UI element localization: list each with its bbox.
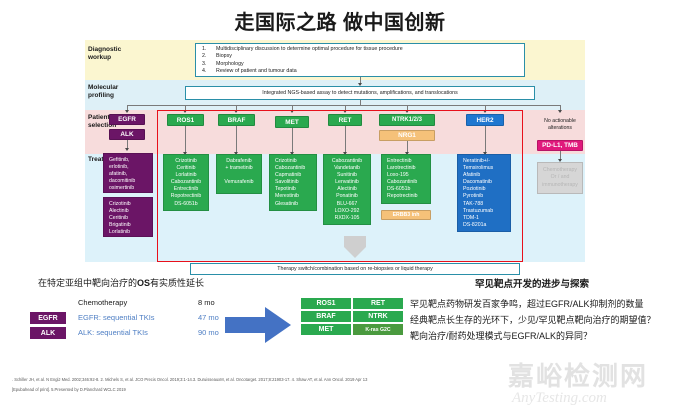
step-number: 4. xyxy=(202,68,206,75)
therapy-switch-box: Therapy switch/combination based on re-b… xyxy=(190,263,520,275)
row-label-molecular: Molecular profiling xyxy=(88,84,132,100)
watermark: 嘉峪检测网 AnyTesting.com xyxy=(502,356,672,412)
transition-arrow-icon xyxy=(225,305,295,345)
arrow-met-icon xyxy=(290,110,294,113)
no-actionable-line1: No actionable xyxy=(544,118,576,125)
gene-chip-nrg1[interactable]: NRG1 xyxy=(379,130,435,141)
drug-name: Capmatinib xyxy=(275,172,314,179)
step-number: 1. xyxy=(202,46,206,53)
caption-left-pre: 在特定亚组中靶向治疗的 xyxy=(38,278,137,288)
drug-name: Neratinib+/- xyxy=(463,158,508,165)
drug-box-braf: Dabrafenib + trametinib Vemurafenib xyxy=(216,154,262,194)
reference-line-1: . Schiller JH, et al. N EnglJ Med. 2002;… xyxy=(12,377,672,383)
drug-name: Vemurafenib xyxy=(219,179,259,186)
arrow-egfr-icon xyxy=(125,110,129,113)
drug-name: dacomitinib xyxy=(109,178,150,185)
rare-target-notes: 罕见靶点药物研发百家争鸣，超过EGFR/ALK抑制剂的数量 经典靶点长生存的光环… xyxy=(410,296,656,344)
caption-right: 罕见靶点开发的进步与探索 xyxy=(475,276,589,290)
drug-name: Crizotinib xyxy=(275,158,314,165)
drug-name: Crizotinib xyxy=(109,201,150,208)
table-row: EGFR EGFR: sequential TKIs 47 mo xyxy=(30,311,230,326)
arrow-noactionable-icon xyxy=(558,110,562,113)
drug-name: osimertinib xyxy=(109,185,150,192)
drug-name: Cabozantinib xyxy=(166,179,206,186)
step-text: Biopsy xyxy=(216,53,232,59)
caption-left-bold: OS xyxy=(137,278,150,288)
diagnostic-step: 2.Biopsy xyxy=(216,53,520,60)
os-label: ALK: sequential TKIs xyxy=(78,328,148,337)
drug-name: Cabozantinib xyxy=(275,165,314,172)
drug-name: Trastuzumab xyxy=(463,208,508,215)
connector-ret-treat xyxy=(345,126,346,154)
chip-met[interactable]: MET xyxy=(300,323,352,336)
diagnostic-workup-box: 1.Multidisciplinary discussion to determ… xyxy=(195,43,525,77)
row-label-diagnostic-line1: Diagnostic xyxy=(88,46,132,54)
diagnostic-step: 1.Multidisciplinary discussion to determ… xyxy=(216,46,520,53)
drug-name: Entrectinib xyxy=(166,186,206,193)
chip-ntrk[interactable]: NTRK xyxy=(352,310,404,323)
step-text: Multidisciplinary discussion to determin… xyxy=(216,46,403,52)
caption-left: 在特定亚组中靶向治疗的OS有实质性延长 xyxy=(38,276,204,289)
drug-name: Repotrectinib xyxy=(387,193,428,200)
caption-left-post: 有实质性延长 xyxy=(150,278,204,288)
chemo-line3: immunotherapy xyxy=(542,182,578,189)
drug-name: Ponatinib xyxy=(326,193,368,200)
drug-name: + trametinib xyxy=(219,165,259,172)
slide: 走国际之路 做中国创新 Diagnostic workup Molecular … xyxy=(0,0,680,413)
chip-ret[interactable]: RET xyxy=(352,297,404,310)
chip-kras-g2c[interactable]: K-ras G2C xyxy=(352,323,404,336)
connector-ros1-treat xyxy=(185,126,186,154)
drug-name: Ceritinib xyxy=(166,165,206,172)
drug-name: Dabrafenib xyxy=(219,158,259,165)
note-line: 靶向治疗/耐药处理模式与EGFR/ALK的异同？ xyxy=(410,328,656,344)
step-number: 3. xyxy=(202,61,206,68)
arrow-ros1-icon xyxy=(183,110,187,113)
os-value: 8 mo xyxy=(198,298,215,307)
drug-box-ntrk: Entrectinib Larotrectinib Loxo-195 Caboz… xyxy=(381,154,431,204)
chemo-line2: Or / and xyxy=(542,174,578,181)
arrow-braf-icon xyxy=(234,110,238,113)
connector-her2-treat xyxy=(485,126,486,154)
row-label-molecular-line1: Molecular xyxy=(88,84,132,92)
drug-name: Temsirolimus xyxy=(463,165,508,172)
drug-name: Gefitinib, xyxy=(109,157,150,164)
drug-name: Entrectinib xyxy=(387,158,428,165)
drug-spacer xyxy=(219,172,259,179)
drug-name: afatinib, xyxy=(109,171,150,178)
diagnostic-steps-list: 1.Multidisciplinary discussion to determ… xyxy=(200,46,520,75)
gene-chip-ros1[interactable]: ROS1 xyxy=(167,114,204,126)
step-number: 2. xyxy=(202,53,206,60)
drug-name: Larotrectinib xyxy=(387,165,428,172)
gene-chip-egfr[interactable]: EGFR xyxy=(109,114,145,125)
drug-name: Sunitinib xyxy=(326,172,368,179)
drug-name: Afatinib xyxy=(463,172,508,179)
drug-box-egfr: Gefitinib, erlotinib, afatinib, dacomiti… xyxy=(103,153,153,193)
drug-name: Ceritinib xyxy=(109,215,150,222)
note-line: 经典靶点长生存的光环下，少见/罕见靶点靶向治疗的期望值？ xyxy=(410,312,656,328)
os-value: 47 mo xyxy=(198,313,219,322)
chip-pdl1-tmb[interactable]: PD-L1, TMB xyxy=(537,140,583,151)
chip-braf[interactable]: BRAF xyxy=(300,310,352,323)
arrow-egfr-treat-icon xyxy=(125,148,129,151)
row-label-diagnostic: Diagnostic workup xyxy=(88,46,132,62)
drug-name: DS-8201a xyxy=(463,222,508,229)
step-text: Morphology xyxy=(216,61,244,67)
arrow-shaft xyxy=(225,317,267,333)
drug-name: Savolitinib xyxy=(275,179,314,186)
connector-braf-treat xyxy=(236,126,237,154)
drug-box-met: Crizotinib Cabozantinib Capmatinib Savol… xyxy=(269,154,317,211)
connector-met-treat xyxy=(292,128,293,154)
page-title: 走国际之路 做中国创新 xyxy=(0,6,680,35)
drug-name: TDM-1 xyxy=(463,215,508,222)
drug-name: Brigatinib xyxy=(109,222,150,229)
gene-chip-ntrk[interactable]: NTRK1/2/3 xyxy=(379,114,435,126)
row-label-molecular-line2: profiling xyxy=(88,92,132,100)
drug-name: BLU-667 xyxy=(326,201,368,208)
arrow-ret-icon xyxy=(343,110,347,113)
os-label: Chemotherapy xyxy=(78,298,127,307)
chip-ros1[interactable]: ROS1 xyxy=(300,297,352,310)
note-line: 罕见靶点药物研发百家争鸣，超过EGFR/ALK抑制剂的数量 xyxy=(410,296,656,312)
diagnostic-step: 4.Review of patient and tumour data xyxy=(216,68,520,75)
os-tag-egfr[interactable]: EGFR xyxy=(30,312,66,324)
drug-name: Crizotinib xyxy=(166,158,206,165)
therapy-switch-arrow-stem xyxy=(344,236,366,247)
drug-name: LOXO-292 xyxy=(326,208,368,215)
gene-chip-met[interactable]: MET xyxy=(275,116,309,128)
drug-name: Dacomatinib xyxy=(463,179,508,186)
os-label: EGFR: sequential TKIs xyxy=(78,313,155,322)
treatment-algorithm-figure: Diagnostic workup Molecular profiling Pa… xyxy=(85,40,585,275)
drug-name: Loxo-195 xyxy=(387,172,428,179)
gene-chip-her2[interactable]: HER2 xyxy=(466,114,504,126)
table-row: Chemotherapy 8 mo xyxy=(30,296,230,311)
drug-box-alk: Crizotinib Alectinib Ceritinib Brigatini… xyxy=(103,197,153,237)
gene-chip-braf[interactable]: BRAF xyxy=(218,114,255,126)
row-label-diagnostic-line2: workup xyxy=(88,54,132,62)
chemo-line1: Chemotherapy xyxy=(542,167,578,174)
drug-name: DS-6051b xyxy=(166,201,206,208)
no-actionable-line2: alterations xyxy=(544,125,576,132)
drug-name: Poziotinib xyxy=(463,186,508,193)
gene-chip-ret[interactable]: RET xyxy=(328,114,362,126)
drug-name: Lorlatinib xyxy=(166,172,206,179)
os-comparison-table: Chemotherapy 8 mo EGFR EGFR: sequential … xyxy=(30,296,230,341)
arrow-her2-icon xyxy=(483,110,487,113)
drug-name: Lorlatinib xyxy=(109,229,150,236)
drug-name: Alectinib xyxy=(109,208,150,215)
therapy-switch-text: Therapy switch/combination based on re-b… xyxy=(277,266,432,272)
drug-box-her2: Neratinib+/- Temsirolimus Afatinib Dacom… xyxy=(457,154,511,232)
os-value: 90 mo xyxy=(198,328,219,337)
drug-name: TAK-788 xyxy=(463,201,508,208)
bus-horizontal xyxy=(127,105,560,106)
drug-name: RXDX-105 xyxy=(326,215,368,222)
arrow-head xyxy=(265,307,291,343)
gene-chip-alk[interactable]: ALK xyxy=(109,129,145,140)
table-row: ALK ALK: sequential TKIs 90 mo xyxy=(30,326,230,341)
drug-box-ros1: Crizotinib Ceritinib Lorlatinib Cabozant… xyxy=(163,154,209,211)
arrow-ntrk-icon xyxy=(405,110,409,113)
molecular-profiling-box: Integrated NGS-based assay to detect mut… xyxy=(185,86,535,100)
drug-name: Glesatinib xyxy=(275,201,314,208)
therapy-switch-arrow-icon xyxy=(344,247,366,258)
os-tag-alk[interactable]: ALK xyxy=(30,327,66,339)
drug-name: Pyrotinib xyxy=(463,193,508,200)
drug-box-chemo-immuno: Chemotherapy Or / and immunotherapy xyxy=(537,162,583,194)
drug-name: Vandetanib xyxy=(326,165,368,172)
drug-name: Merestinib xyxy=(275,193,314,200)
drug-name: Cabozantinib xyxy=(326,158,368,165)
drug-name: Cabozantinib xyxy=(387,179,428,186)
reference-line-2: [Epubahead of print]. 5.Presented by D.P… xyxy=(12,387,672,393)
diagnostic-step: 3.Morphology xyxy=(216,61,520,68)
step-text: Review of patient and tumour data xyxy=(216,68,297,74)
drug-name: Lenvatinib xyxy=(326,179,368,186)
chip-erbb3-inhibitor[interactable]: ERBB3 inh xyxy=(381,210,431,220)
molecular-assay-text: Integrated NGS-based assay to detect mut… xyxy=(262,90,458,96)
drug-box-ret: Cabozantinib Vandetanib Sunitinib Lenvat… xyxy=(323,154,371,225)
drug-name: erlotinib, xyxy=(109,164,150,171)
drug-name: DS-6051b xyxy=(387,186,428,193)
drug-name: Ropotrectinib xyxy=(166,193,206,200)
drug-name: Tepotinib xyxy=(275,186,314,193)
no-actionable-alterations-label: No actionable alterations xyxy=(537,114,583,136)
drug-name: Alectinib xyxy=(326,186,368,193)
